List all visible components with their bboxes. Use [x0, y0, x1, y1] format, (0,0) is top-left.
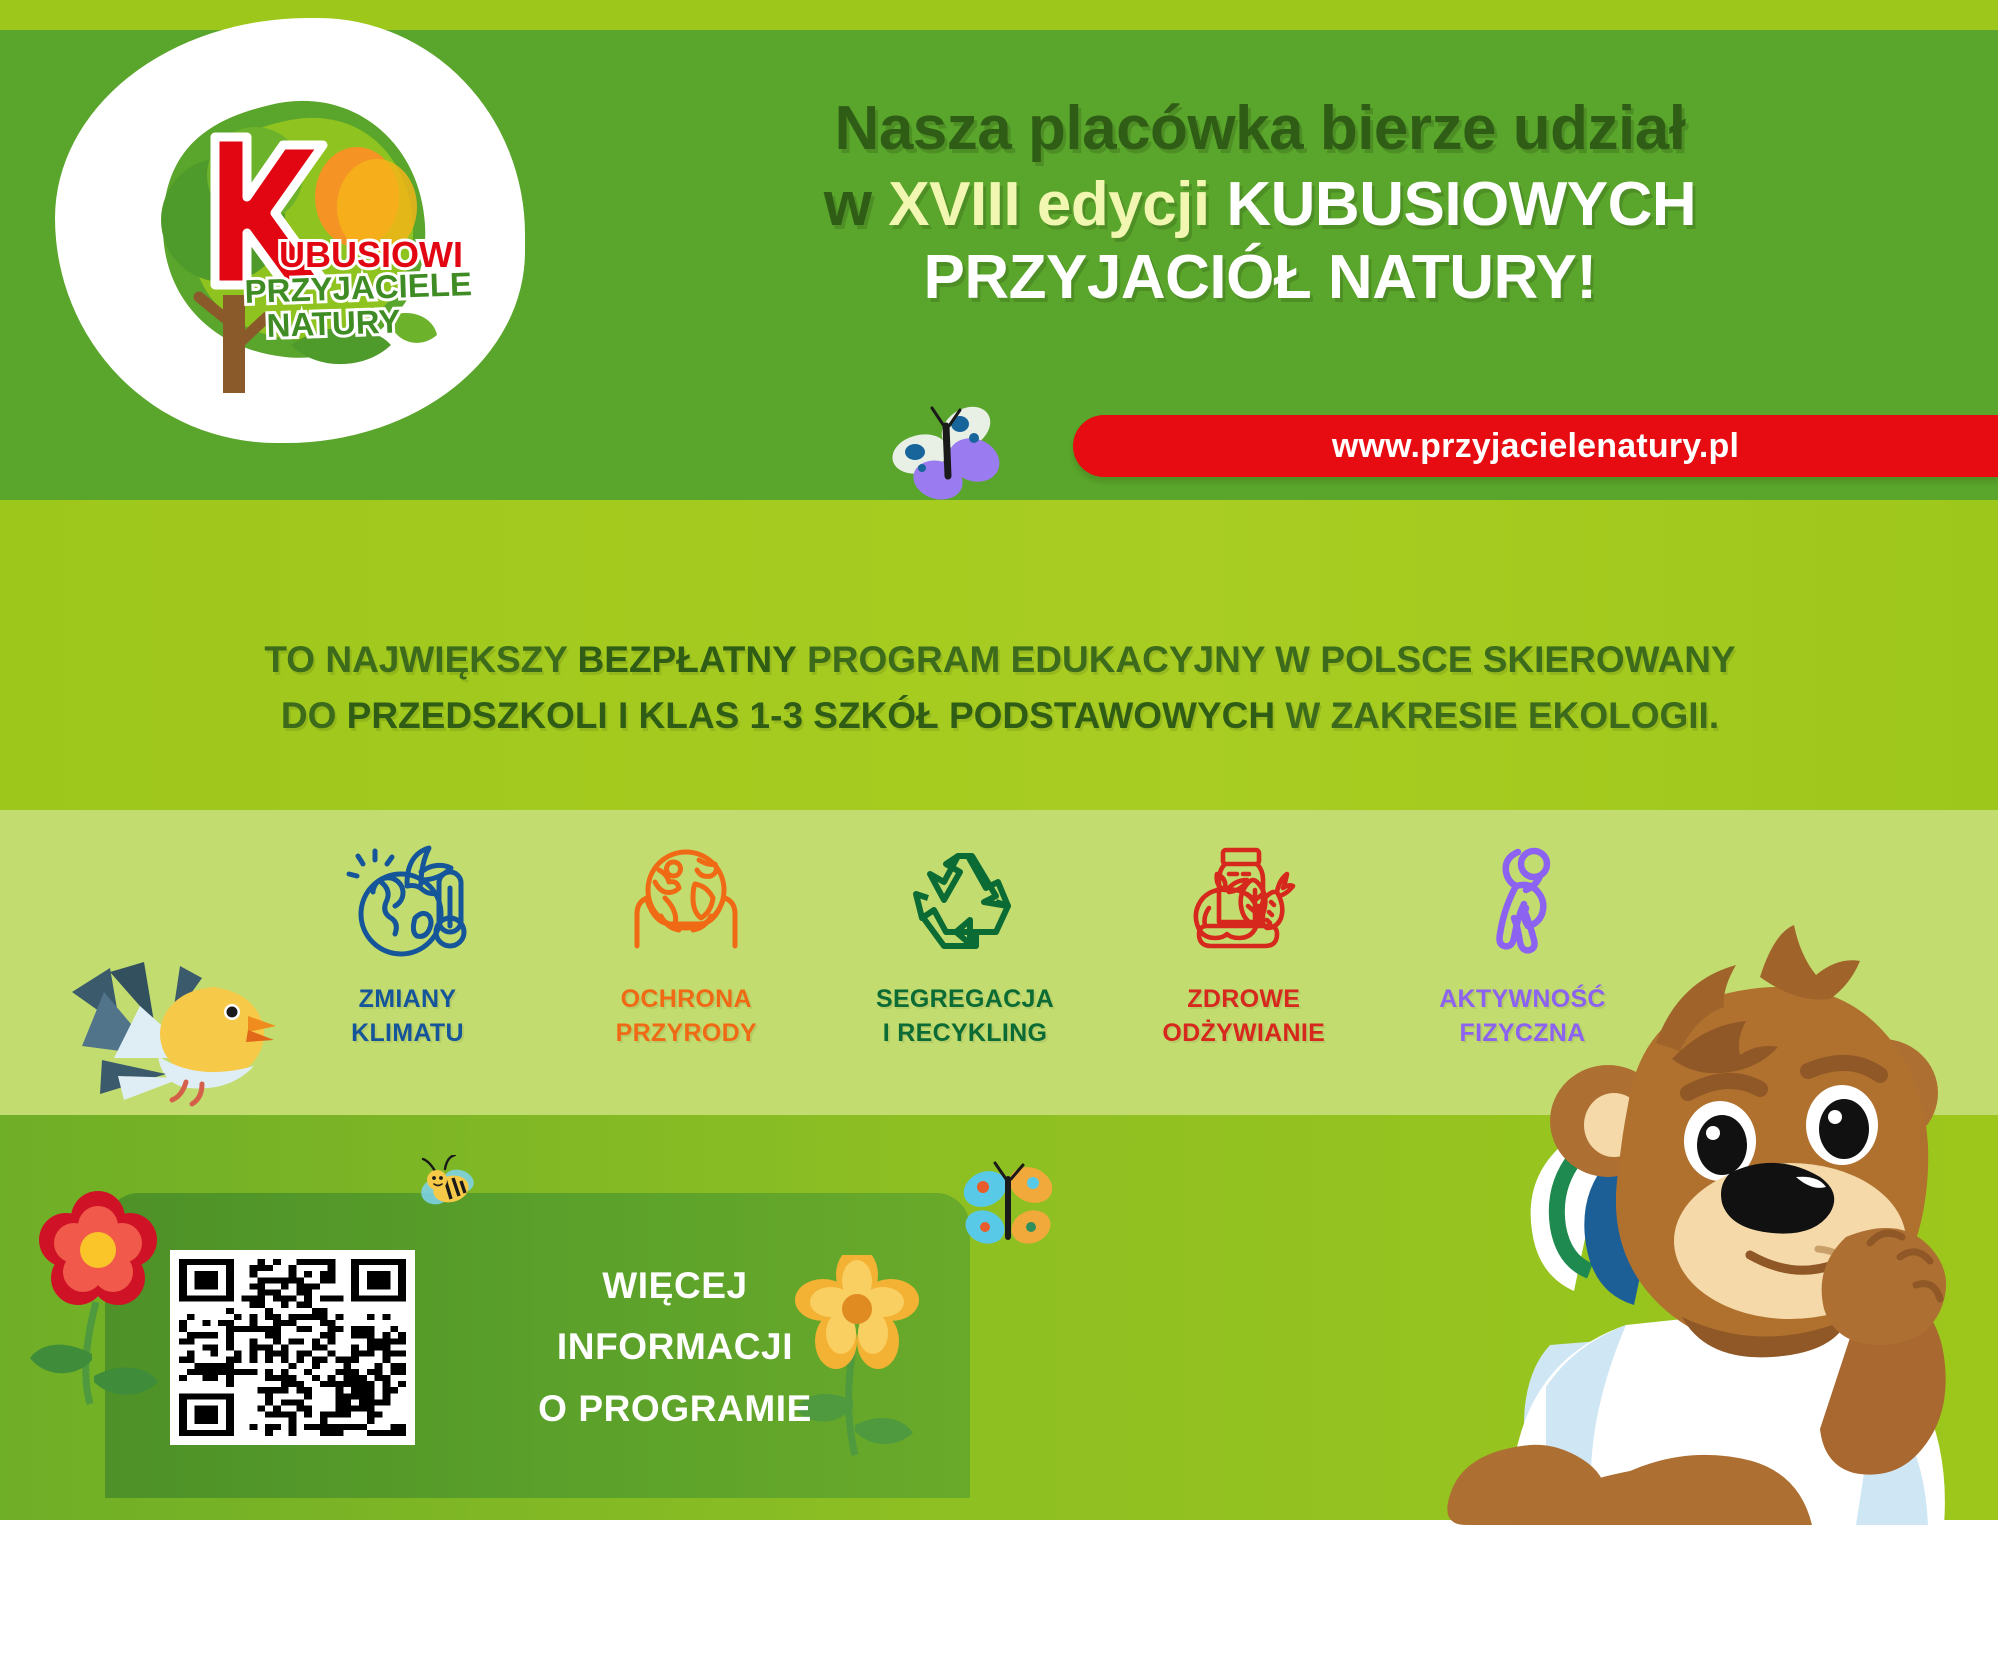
bee-icon — [415, 1155, 487, 1222]
cat-2-l2: I RECYKLING — [883, 1019, 1047, 1047]
hero-line-2: w XVIII edycji KUBUSIOWYCH — [540, 172, 1980, 238]
cat-0-l1: ZMIANY — [359, 985, 457, 1013]
qr-code[interactable] — [170, 1250, 415, 1445]
category-climate-change: ZMIANY KLIMATU — [300, 842, 515, 1050]
cat-1-l1: OCHRONA — [621, 985, 752, 1013]
cat-2-l1: SEGREGACJA — [876, 985, 1054, 1013]
desc-1-bold: BEZPŁATNY — [578, 639, 797, 680]
desc-2-pre: DO — [281, 695, 347, 736]
hero-line-1: Nasza placówka bierze udział — [540, 96, 1980, 162]
cat-3-l2: ODŻYWIANIE — [1162, 1019, 1325, 1047]
hero-line-2-w: w — [824, 170, 872, 239]
butterfly-icon — [886, 398, 1006, 513]
desc-2-post: W ZAKRESIE EKOLOGII. — [1275, 695, 1719, 736]
bear-mascot — [1430, 925, 1998, 1530]
desc-1-post: PROGRAM EDUKACYJNY W POLSCE SKIEROWANY — [797, 639, 1736, 680]
category-nature-protection: OCHRONA PRZYRODY — [579, 842, 794, 1050]
hero-headline: Nasza placówka bierze udział w XVIII edy… — [540, 96, 1980, 311]
description-line-2: DO PRZEDSZKOLI I KLAS 1-3 SZKÓŁ PODSTAWO… — [60, 688, 1940, 744]
program-logo: UBUSIOWI PRZYJACIELE NATURY — [95, 45, 495, 415]
more-info-caption: WIĘCEJ INFORMACJI O PROGRAMIE — [425, 1255, 925, 1439]
nature-protection-icon — [621, 842, 751, 967]
website-url-banner[interactable]: www.przyjacielenatury.pl — [1073, 415, 1998, 477]
poster-root: UBUSIOWI PRZYJACIELE NATURY Nasza placów… — [0, 0, 1998, 1675]
butterfly-icon — [955, 1155, 1065, 1270]
category-recycling: SEGREGACJA I RECYKLING — [858, 842, 1073, 1050]
hero-line-2-edition: XVIII edycji — [888, 170, 1209, 239]
cat-3-l1: ZDROWE — [1187, 985, 1300, 1013]
category-label-nature: OCHRONA PRZYRODY — [579, 983, 794, 1050]
description-line-1: TO NAJWIĘKSZY BEZPŁATNY PROGRAM EDUKACYJ… — [60, 632, 1940, 688]
desc-2-bold: PRZEDSZKOLI I KLAS 1-3 SZKÓŁ PODSTAWOWYC… — [347, 695, 1275, 736]
recycling-icon — [900, 842, 1030, 967]
footer: ORGANIZATOR PROGRAMU: PARTNER MERYTORYCZ… — [0, 1520, 1998, 1675]
cat-0-l2: KLIMATU — [351, 1019, 464, 1047]
logo-word-natury: NATURY — [266, 302, 401, 344]
cat-1-l2: PRZYRODY — [616, 1019, 757, 1047]
climate-change-icon — [343, 842, 473, 967]
desc-1-pre: TO NAJWIĘKSZY — [264, 639, 577, 680]
hero-line-2-kubusiowych: KUBUSIOWYCH — [1226, 170, 1696, 239]
healthy-eating-icon — [1179, 842, 1309, 967]
category-healthy-eating: ZDROWE ODŻYWIANIE — [1136, 842, 1351, 1050]
more-info-line-3: O PROGRAMIE — [425, 1378, 925, 1439]
category-label-recycling: SEGREGACJA I RECYKLING — [858, 983, 1073, 1050]
category-label-climate: ZMIANY KLIMATU — [300, 983, 515, 1050]
bird-icon — [62, 948, 297, 1118]
hero-line-3: PRZYJACIÓŁ NATURY! — [540, 245, 1980, 311]
category-label-eating: ZDROWE ODŻYWIANIE — [1136, 983, 1351, 1050]
program-description: TO NAJWIĘKSZY BEZPŁATNY PROGRAM EDUKACYJ… — [60, 632, 1940, 744]
more-info-line-1: WIĘCEJ — [425, 1255, 925, 1316]
more-info-line-2: INFORMACJI — [425, 1316, 925, 1377]
